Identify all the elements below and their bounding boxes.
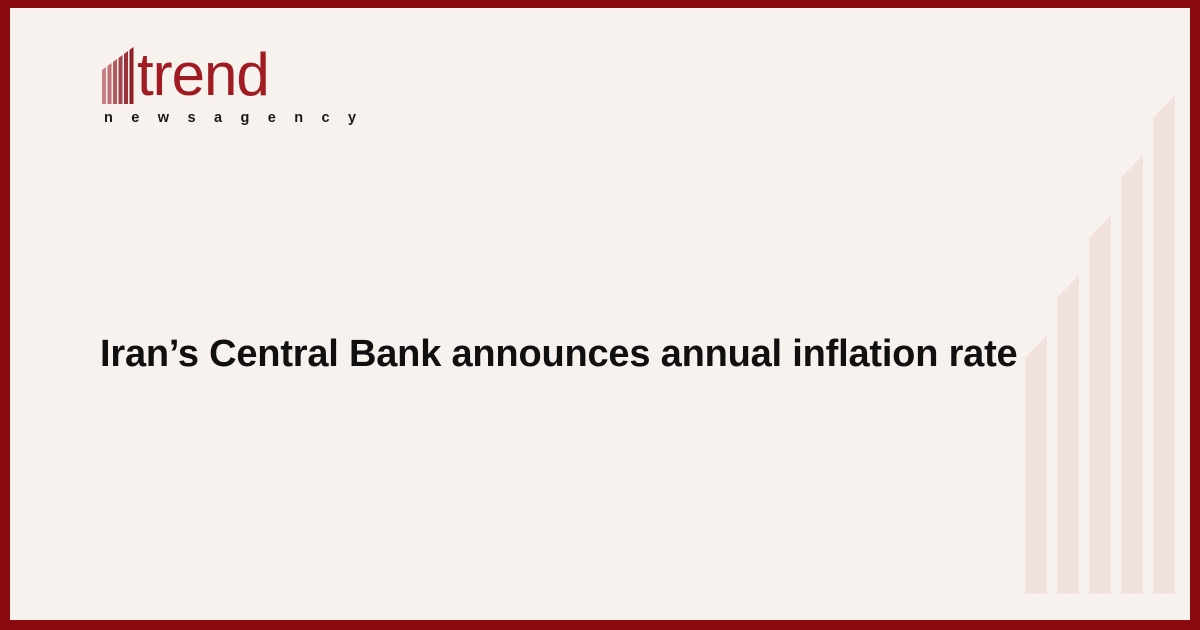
ascending-bar-chart-decoration	[1010, 8, 1190, 620]
logo-tagline: n e w s a g e n c y	[104, 110, 360, 126]
ascending-bars-icon	[100, 46, 138, 104]
page-title: Iran’s Central Bank announces annual inf…	[100, 329, 1030, 379]
deco-bar-2	[1057, 275, 1079, 594]
deco-bar-3	[1089, 215, 1111, 594]
card-inner-surface: trend n e w s a g e n c y Iran’s Central…	[10, 8, 1190, 620]
deco-bar-5	[1153, 95, 1175, 594]
social-share-card: trend n e w s a g e n c y Iran’s Central…	[0, 0, 1200, 630]
deco-bar-4	[1121, 155, 1143, 594]
logo-wordmark: trend	[137, 46, 269, 104]
trend-news-agency-logo[interactable]: trend n e w s a g e n c y	[100, 42, 360, 138]
logo-mark-row: trend	[100, 42, 360, 104]
